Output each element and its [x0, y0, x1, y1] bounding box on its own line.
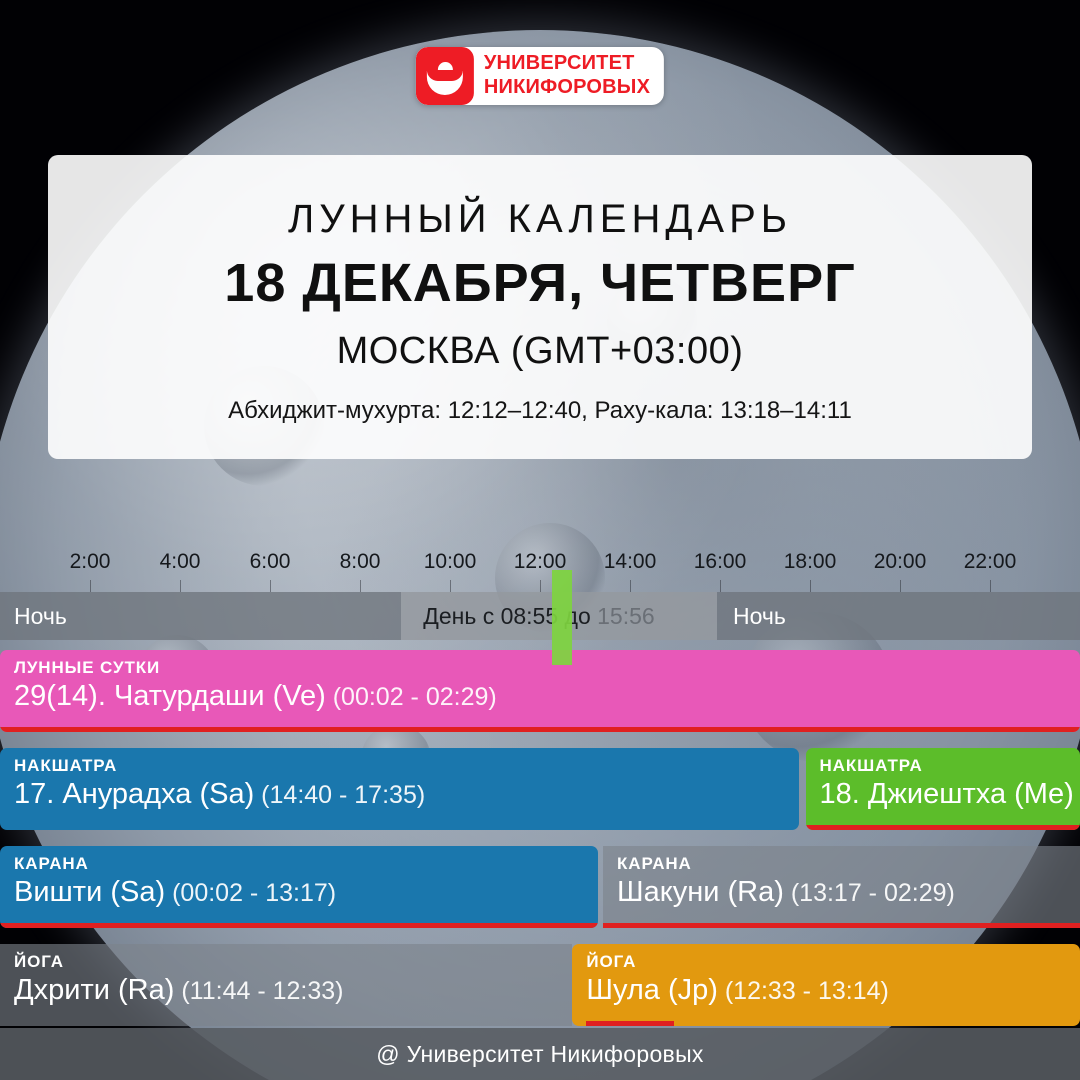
segment-kicker: КАРАНА [14, 854, 598, 874]
segment-title: 29(14). Чатурдаши (Ve) (00:02 - 02:29) [14, 680, 1080, 712]
segment-name: 29(14). Чатурдаши (Ve) [14, 680, 326, 712]
muhurta-note: Абхиджит-мухурта: 12:12–12:40, Раху-кала… [78, 397, 1002, 425]
axis-tick-line [720, 580, 721, 592]
segment-kicker: КАРАНА [617, 854, 1080, 874]
header-card: ЛУННЫЙ КАЛЕНДАРЬ 18 ДЕКАБРЯ, ЧЕТВЕРГ МОС… [48, 155, 1032, 459]
time-axis: 2:004:006:008:0010:0012:0014:0016:0018:0… [0, 540, 1080, 592]
brand-line-2: НИКИФОРОВЫХ [484, 76, 650, 100]
axis-tick-label: 18:00 [784, 550, 837, 574]
timeline-segment[interactable]: НАКШАТРА18. Джиештха (Me) [806, 748, 1080, 830]
axis-tick-line [360, 580, 361, 592]
axis-tick-label: 16:00 [694, 550, 747, 574]
segment-time-range: (14:40 - 17:35) [254, 781, 425, 809]
segment-underline [806, 825, 1080, 830]
segment-title: Вишти (Sa) (00:02 - 13:17) [14, 876, 598, 908]
axis-tick-label: 4:00 [160, 550, 201, 574]
day-night-band: НочьДень с 08:55 до 15:56Ночь [0, 592, 1080, 640]
daylight-label: День с 08:55 до 15:56 [423, 603, 654, 630]
segment-name: Шакуни (Ra) [617, 876, 784, 908]
axis-tick-label: 20:00 [874, 550, 927, 574]
timeline-row-nakshatra: НАКШАТРА17. Анурадха (Sa) (14:40 - 17:35… [0, 748, 1080, 836]
axis-tick-line [270, 580, 271, 592]
axis-tick-label: 6:00 [250, 550, 291, 574]
timeline-segment[interactable]: ЛУННЫЕ СУТКИ29(14). Чатурдаши (Ve) (00:0… [0, 650, 1080, 732]
segment-name: 17. Анурадха (Sa) [14, 778, 254, 810]
segment-title: 17. Анурадха (Sa) (14:40 - 17:35) [14, 778, 799, 810]
brand-logo[interactable]: УНИВЕРСИТЕТ НИКИФОРОВЫХ [416, 47, 664, 105]
segment-kicker: НАКШАТРА [14, 756, 799, 776]
timeline-segment[interactable]: НАКШАТРА17. Анурадха (Sa) (14:40 - 17:35… [0, 748, 799, 830]
axis-tick-label: 10:00 [424, 550, 477, 574]
axis-tick-label: 22:00 [964, 550, 1017, 574]
segment-underline [586, 1021, 674, 1026]
page-kicker: ЛУННЫЙ КАЛЕНДАРЬ [78, 197, 1002, 242]
footer-text: @ Университет Никифоровых [376, 1041, 703, 1068]
segment-name: Шула (Jp) [586, 974, 718, 1006]
segment-kicker: ЙОГА [586, 952, 1080, 972]
segment-title: Шула (Jp) (12:33 - 13:14) [586, 974, 1080, 1006]
axis-tick-line [900, 580, 901, 592]
timeline: 2:004:006:008:0010:0012:0014:0016:0018:0… [0, 540, 1080, 1032]
axis-tick-line [90, 580, 91, 592]
segment-time-range: (11:44 - 12:33) [174, 977, 343, 1005]
axis-tick-line [450, 580, 451, 592]
axis-tick-label: 8:00 [340, 550, 381, 574]
axis-tick-line [810, 580, 811, 592]
page-title: 18 ДЕКАБРЯ, ЧЕТВЕРГ [78, 252, 1002, 314]
axis-tick-line [630, 580, 631, 592]
segment-time-range: (00:02 - 13:17) [165, 879, 336, 907]
night-label-left: Ночь [14, 603, 67, 630]
axis-tick-label: 2:00 [70, 550, 111, 574]
timeline-segment[interactable]: ЙОГАДхрити (Ra) (11:44 - 12:33) [0, 944, 572, 1026]
footer-credit: @ Университет Никифоровых [0, 1028, 1080, 1080]
moon-smile-logo-icon [416, 47, 474, 105]
brand-logo-text: УНИВЕРСИТЕТ НИКИФОРОВЫХ [474, 47, 664, 105]
timeline-row-lunar-day: ЛУННЫЕ СУТКИ29(14). Чатурдаши (Ve) (00:0… [0, 650, 1080, 738]
timeline-segment[interactable]: КАРАНАШакуни (Ra) (13:17 - 02:29) [603, 846, 1080, 928]
segment-time-range: (00:02 - 02:29) [326, 683, 497, 711]
timeline-segment[interactable]: ЙОГАШула (Jp) (12:33 - 13:14) [572, 944, 1080, 1026]
location-timezone: МОСКВА (GMT+03:00) [78, 330, 1002, 373]
axis-tick-label: 12:00 [514, 550, 567, 574]
segment-name: 18. Джиештха (Me) [820, 778, 1074, 810]
segment-title: Шакуни (Ra) (13:17 - 02:29) [617, 876, 1080, 908]
segment-kicker: ЛУННЫЕ СУТКИ [14, 658, 1080, 678]
segment-title: 18. Джиештха (Me) [820, 778, 1080, 810]
segment-underline [0, 727, 1080, 732]
night-label-right: Ночь [733, 603, 786, 630]
segment-name: Дхрити (Ra) [14, 974, 174, 1006]
segment-time-range: (13:17 - 02:29) [784, 879, 955, 907]
timeline-segment[interactable]: КАРАНАВишти (Sa) (00:02 - 13:17) [0, 846, 598, 928]
axis-tick-label: 14:00 [604, 550, 657, 574]
axis-tick-line [180, 580, 181, 592]
lunar-calendar-poster: УНИВЕРСИТЕТ НИКИФОРОВЫХ ЛУННЫЙ КАЛЕНДАРЬ… [0, 0, 1080, 1080]
segment-name: Вишти (Sa) [14, 876, 165, 908]
segment-time-range: (12:33 - 13:14) [718, 977, 889, 1005]
axis-tick-line [990, 580, 991, 592]
segment-title: Дхрити (Ra) (11:44 - 12:33) [14, 974, 572, 1006]
axis-tick-line [540, 580, 541, 592]
timeline-row-yoga: ЙОГАДхрити (Ra) (11:44 - 12:33)ЙОГАШула … [0, 944, 1080, 1032]
segment-underline [0, 923, 598, 928]
timeline-row-karana: КАРАНАВишти (Sa) (00:02 - 13:17)КАРАНАШа… [0, 846, 1080, 934]
timeline-rows: ЛУННЫЕ СУТКИ29(14). Чатурдаши (Ve) (00:0… [0, 650, 1080, 1032]
segment-kicker: ЙОГА [14, 952, 572, 972]
segment-underline [603, 923, 1080, 928]
brand-line-1: УНИВЕРСИТЕТ [484, 52, 650, 76]
segment-kicker: НАКШАТРА [820, 756, 1080, 776]
